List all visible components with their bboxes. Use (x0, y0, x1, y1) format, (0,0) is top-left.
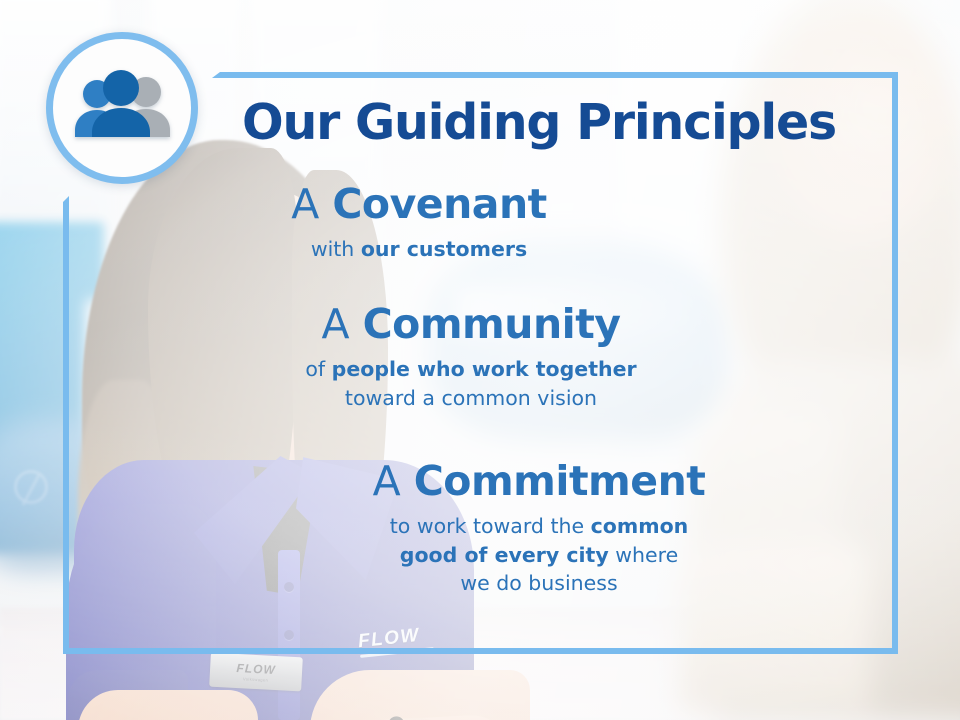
principle-heading: A Covenant (139, 183, 699, 226)
frame-border-bottom (63, 648, 898, 654)
principle-heading: A Commitment (259, 460, 819, 503)
subtext-bold: people who work together (332, 357, 637, 381)
principle-community: A Community of people who work together … (191, 303, 751, 412)
principle-subtext: of people who work together toward a com… (191, 355, 751, 412)
subtext-bold: common (591, 514, 689, 538)
principle-keyword: Covenant (332, 180, 546, 228)
principle-keyword: Community (363, 300, 621, 348)
subtext-bold: good of every city (400, 543, 609, 567)
principle-subtext-line: of people who work together (191, 355, 751, 383)
subtext-bold: our customers (361, 237, 527, 261)
principle-subtext: to work toward the common good of every … (259, 512, 819, 597)
subtext-plain: of (305, 357, 331, 381)
subtext-plain: to work toward the (390, 514, 591, 538)
frame-border-right (892, 72, 898, 654)
principle-article: A (373, 457, 414, 505)
principle-subtext-line: good of every city where (259, 541, 819, 569)
principle-subtext-line: to work toward the common (259, 512, 819, 540)
principle-covenant: A Covenant with our customers (139, 183, 699, 264)
principle-keyword: Commitment (414, 457, 706, 505)
principle-heading: A Community (191, 303, 751, 346)
principle-subtext: with our customers (139, 235, 699, 263)
principle-subtext-line: with our customers (139, 235, 699, 263)
banner-graphic: FLOW FLOW Volkswagen (0, 0, 960, 720)
page-title: Our Guiding Principles (219, 98, 859, 147)
principle-subtext-line: toward a common vision (191, 384, 751, 412)
text-content: Our Guiding Principles A Covenant with o… (69, 78, 892, 648)
subtext-plain: with (311, 237, 361, 261)
principle-commitment: A Commitment to work toward the common g… (259, 460, 819, 597)
principle-article: A (321, 300, 362, 348)
subtext-plain: where (609, 543, 678, 567)
principle-article: A (291, 180, 332, 228)
principle-subtext-line: we do business (259, 569, 819, 597)
